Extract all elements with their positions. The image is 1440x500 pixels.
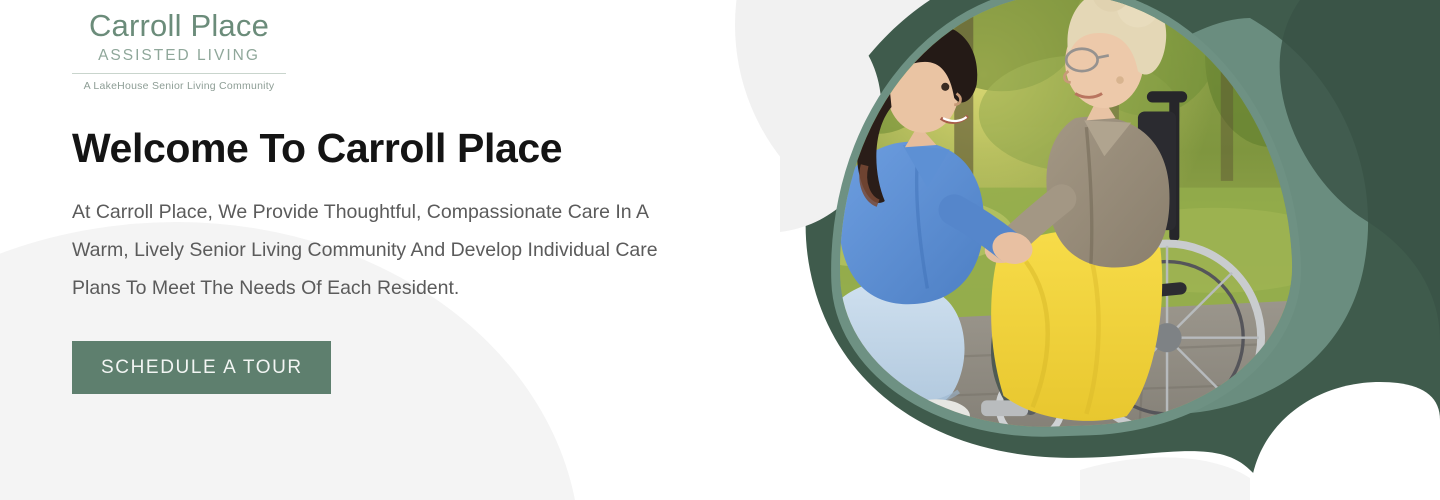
- schedule-a-tour-button[interactable]: SCHEDULE A TOUR: [72, 341, 331, 394]
- hero-content: Carroll Place ASSISTED LIVING A LakeHous…: [72, 0, 732, 500]
- brand-name: Carroll Place: [72, 10, 286, 43]
- hero-body-text: At Carroll Place, We Provide Thoughtful,…: [72, 193, 692, 307]
- brand-logo[interactable]: Carroll Place ASSISTED LIVING A LakeHous…: [72, 10, 286, 92]
- hero-photo: [838, 0, 1290, 426]
- hero-section: Carroll Place ASSISTED LIVING A LakeHous…: [0, 0, 1440, 500]
- brand-tagline: A LakeHouse Senior Living Community: [72, 80, 286, 92]
- brand-subtitle: ASSISTED LIVING: [72, 47, 286, 65]
- logo-divider: [72, 73, 286, 74]
- page-title: Welcome To Carroll Place: [72, 126, 732, 171]
- photo-mask: [831, 0, 1298, 434]
